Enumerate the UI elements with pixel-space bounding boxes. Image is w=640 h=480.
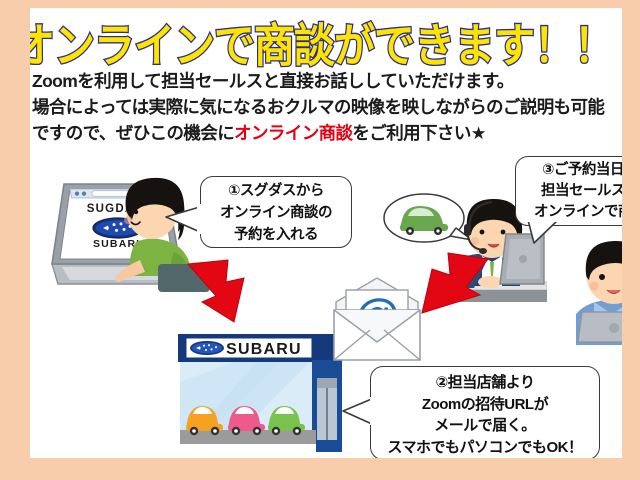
body-line-3-suffix: をご利用下さい★ (352, 123, 485, 143)
callout-step-3-tail (524, 219, 564, 245)
arrow-step-1-to-2 (182, 256, 266, 330)
illustration-email: @ (322, 276, 432, 366)
callout-step-1-line-2: オンライン商談の (201, 202, 351, 224)
callout-step-1-line-3: 予約を入れる (201, 224, 351, 246)
frame-border-left (0, 0, 30, 480)
body-copy: Zoomを利用して担当セールスと直接お話ししていただけます。 場合によっては実際… (32, 68, 620, 146)
body-line-1: Zoomを利用して担当セールスと直接お話ししていただけます。 (32, 68, 620, 94)
callout-step-1-line-1: ①スグダスから (201, 180, 351, 202)
frame-border-top (0, 0, 640, 8)
customer-graphic (564, 230, 622, 345)
body-line-3-highlight: オンライン商談 (234, 123, 352, 143)
poster-canvas: オンラインで商談ができます！！ Zoomを利用して担当セールスと直接お話ししてい… (0, 0, 640, 480)
callout-step-2-line-4: スマホでもパソコンでもOK！ (371, 437, 599, 459)
red-arrow-down-right-icon (182, 256, 266, 330)
frame-border-right (622, 0, 640, 480)
callout-step-3-line-1: ③ご予約当日に (516, 160, 622, 181)
callout-step-2-line-2: Zoomの招待URLが (371, 394, 599, 416)
callout-step-2-line-3: メールで届く。 (371, 415, 599, 437)
dealership-sign-text: SUBARU (226, 341, 302, 358)
illustration-customer-online (564, 230, 622, 345)
callout-step-2-line-1: ②担当店舗より (371, 372, 599, 394)
arrow-step-2-to-3 (418, 251, 500, 325)
body-line-2: 場合によっては実際に気になるおクルマの映像を映しながらのご説明も可能 (32, 94, 620, 120)
callout-step-2: ②担当店舗より Zoomの招待URLが メールで届く。 スマホでもパソコンでもO… (370, 366, 600, 458)
body-line-3-prefix: ですので、ぜひこの機会に (32, 123, 234, 143)
poster-sheet: オンラインで商談ができます！！ Zoomを利用して担当セールスと直接お話ししてい… (30, 8, 622, 458)
page-title: オンラインで商談ができます！！ (30, 20, 614, 72)
callout-step-3-line-2: 担当セールスと (516, 181, 622, 202)
red-arrow-up-right-icon (418, 251, 500, 325)
callout-step-1: ①スグダスから オンライン商談の 予約を入れる (200, 176, 352, 248)
callout-step-3: ③ご予約当日に 担当セールスと オンラインで商談 (515, 156, 622, 226)
callout-step-1-tail (164, 201, 204, 235)
callout-step-2-tail (341, 395, 375, 427)
body-line-3: ですので、ぜひこの機会にオンライン商談をご利用下さい★ (32, 120, 620, 146)
frame-border-bottom (0, 458, 640, 480)
envelope-at-icon: @ (322, 276, 432, 366)
